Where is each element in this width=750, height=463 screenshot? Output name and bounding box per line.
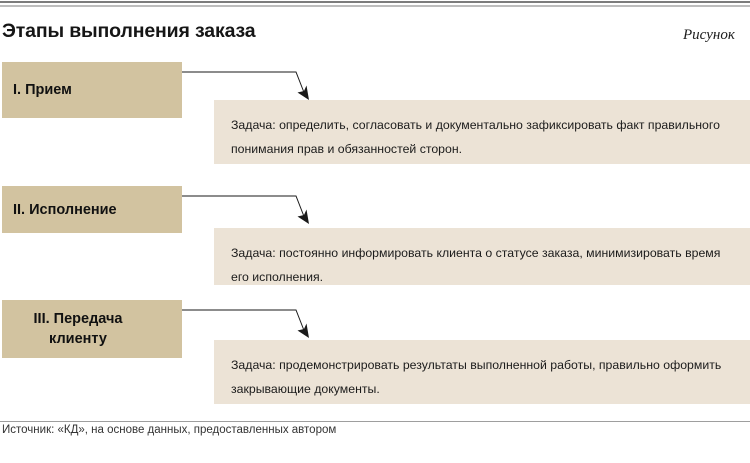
connector-arrow-1 <box>182 72 305 95</box>
stage-box-2: II. Исполнение <box>2 186 182 233</box>
task-text-1: Задача: определить, согласовать и докуме… <box>231 118 720 156</box>
figure-canvas: Этапы выполнения заказа Рисунок I. Прием… <box>0 0 750 463</box>
stage-label-1: I. Прием <box>13 80 72 100</box>
arrowhead-1 <box>298 86 310 101</box>
arrowhead-2 <box>298 210 310 225</box>
task-box-2: Задача: постоянно информировать клиента … <box>214 228 750 285</box>
task-box-3: Задача: продемонстрировать результаты вы… <box>214 340 750 404</box>
footer-rule <box>0 421 750 422</box>
header-rule-light <box>0 5 750 7</box>
task-box-1: Задача: определить, согласовать и докуме… <box>214 100 750 164</box>
header-rule-dark <box>0 1 750 3</box>
figure-label: Рисунок <box>683 27 735 44</box>
stage-label-3: III. Передача клиенту <box>13 309 143 349</box>
stage-box-3: III. Передача клиенту <box>2 300 182 358</box>
task-text-3: Задача: продемонстрировать результаты вы… <box>231 358 721 396</box>
connector-arrow-3 <box>182 310 305 333</box>
stage-box-1: I. Прием <box>2 62 182 118</box>
stage-label-2: II. Исполнение <box>13 200 117 220</box>
page-title: Этапы выполнения заказа <box>2 20 256 43</box>
source-note: Источник: «КД», на основе данных, предос… <box>2 424 336 436</box>
connector-arrow-2 <box>182 196 305 219</box>
arrowhead-3 <box>298 324 310 339</box>
task-text-2: Задача: постоянно информировать клиента … <box>231 246 720 284</box>
